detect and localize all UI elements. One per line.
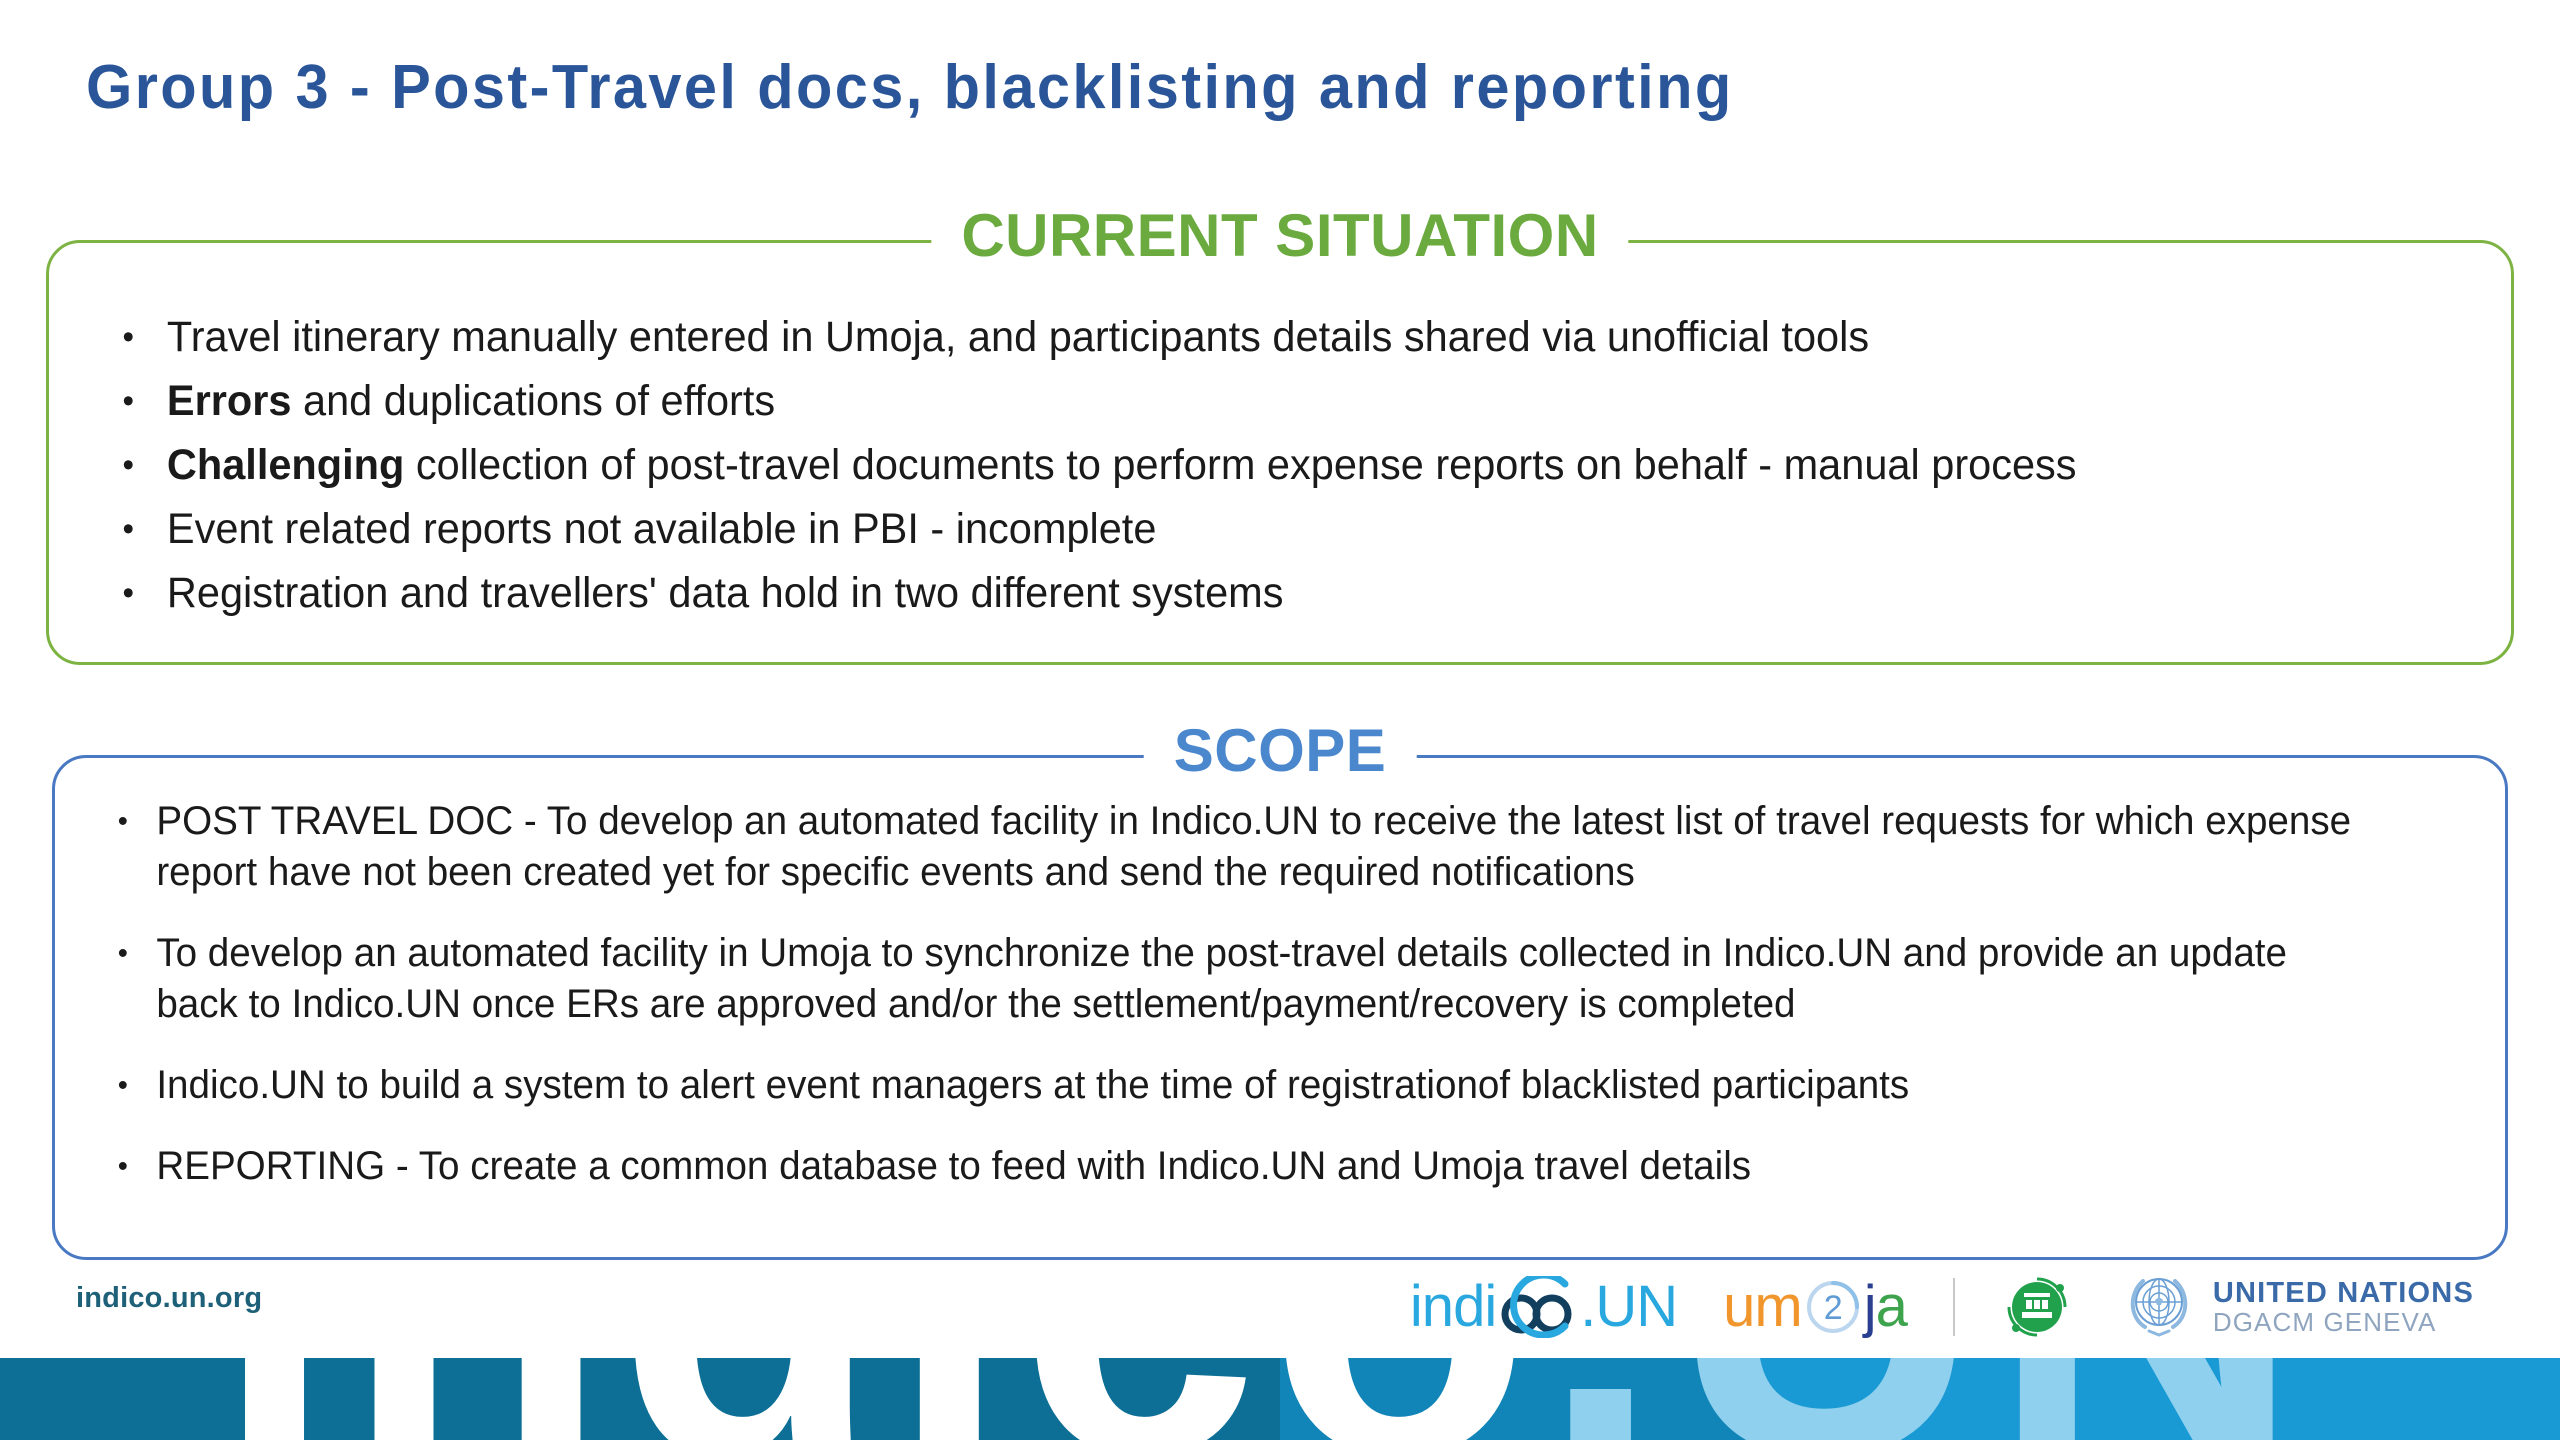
umoja-digit: 2 — [1824, 1291, 1842, 1325]
banner-watermark-text: indico.UN — [215, 1358, 2312, 1440]
bullet-text: Travel itinerary manually entered in Umo… — [167, 313, 1869, 361]
green-conference-badge-icon — [2001, 1271, 2073, 1343]
list-item: Indico.UN to build a system to alert eve… — [110, 1060, 2368, 1111]
footer-url-text: indico.un.org — [76, 1282, 262, 1315]
scope-section: SCOPE POST TRAVEL DOC - To develop an au… — [52, 755, 2508, 1260]
current-situation-section: CURRENT SITUATION Travel itinerary manua… — [46, 240, 2514, 665]
bullet-text: Registration and travellers' data hold i… — [167, 569, 1284, 617]
list-item: Registration and travellers' data hold i… — [109, 561, 2388, 625]
bullet-text: POST TRAVEL DOC - To develop an automate… — [156, 799, 2351, 894]
banner-text-tail: .UN — [1541, 1358, 2312, 1440]
un-logo-line1: UNITED NATIONS — [2213, 1278, 2474, 1308]
banner-text-lead: indico — [215, 1358, 1541, 1440]
indico-logo-lead: indi — [1410, 1278, 1496, 1336]
current-situation-bullet-list: Travel itinerary manually entered in Umo… — [49, 305, 2511, 625]
umoja-logo-j: j — [1864, 1278, 1876, 1336]
current-situation-header: CURRENT SITUATION — [931, 193, 1628, 279]
umoja-logo-a: a — [1876, 1278, 1907, 1336]
indico-logo-tail: .UN — [1580, 1278, 1677, 1336]
page-title: Group 3 - Post-Travel docs, blacklisting… — [86, 52, 1734, 123]
list-item: Challenging collection of post-travel do… — [109, 433, 2388, 497]
bottom-banner: indico.UN — [0, 1358, 2560, 1440]
bullet-text: collection of post-travel documents to p… — [404, 441, 2076, 489]
bullet-text: and duplications of efforts — [291, 377, 775, 425]
infinity-loop-icon — [1494, 1276, 1586, 1338]
bullet-text: Event related reports not available in P… — [167, 505, 1157, 553]
umoja-logo-um: um — [1723, 1278, 1802, 1336]
bullet-text: REPORTING - To create a common database … — [156, 1144, 1751, 1188]
list-item: POST TRAVEL DOC - To develop an automate… — [110, 796, 2368, 898]
umoja-circle-2-icon: 2 — [1804, 1278, 1862, 1336]
indico-un-logo: indi .UN — [1410, 1272, 1677, 1342]
list-item: Errors and duplications of efforts — [109, 369, 2388, 433]
bullet-bold-lead: Challenging — [167, 441, 404, 489]
united-nations-emblem: UNITED NATIONS DGACM GENEVA — [2119, 1265, 2474, 1350]
scope-bullet-list: POST TRAVEL DOC - To develop an automate… — [55, 796, 2505, 1222]
list-item: To develop an automated facility in Umoj… — [110, 928, 2368, 1030]
bullet-text: To develop an automated facility in Umoj… — [156, 931, 2287, 1026]
un-logo-line2: DGACM GENEVA — [2213, 1309, 2474, 1336]
list-item: Event related reports not available in P… — [109, 497, 2388, 561]
scope-header: SCOPE — [1144, 708, 1417, 794]
un-globe-icon — [2119, 1265, 2199, 1350]
list-item: Travel itinerary manually entered in Umo… — [109, 305, 2388, 369]
un-logo-text: UNITED NATIONS DGACM GENEVA — [2213, 1278, 2474, 1336]
list-item: REPORTING - To create a common database … — [110, 1141, 2368, 1192]
logo-divider — [1953, 1278, 1955, 1336]
footer: indico.un.org indi .UN um 2 — [0, 1262, 2560, 1352]
footer-logo-row: indi .UN um 2 j a — [1410, 1262, 2474, 1352]
umoja-logo: um 2 j a — [1723, 1272, 1907, 1342]
bullet-bold-lead: Errors — [167, 377, 292, 425]
bullet-text: Indico.UN to build a system to alert eve… — [156, 1063, 1909, 1107]
